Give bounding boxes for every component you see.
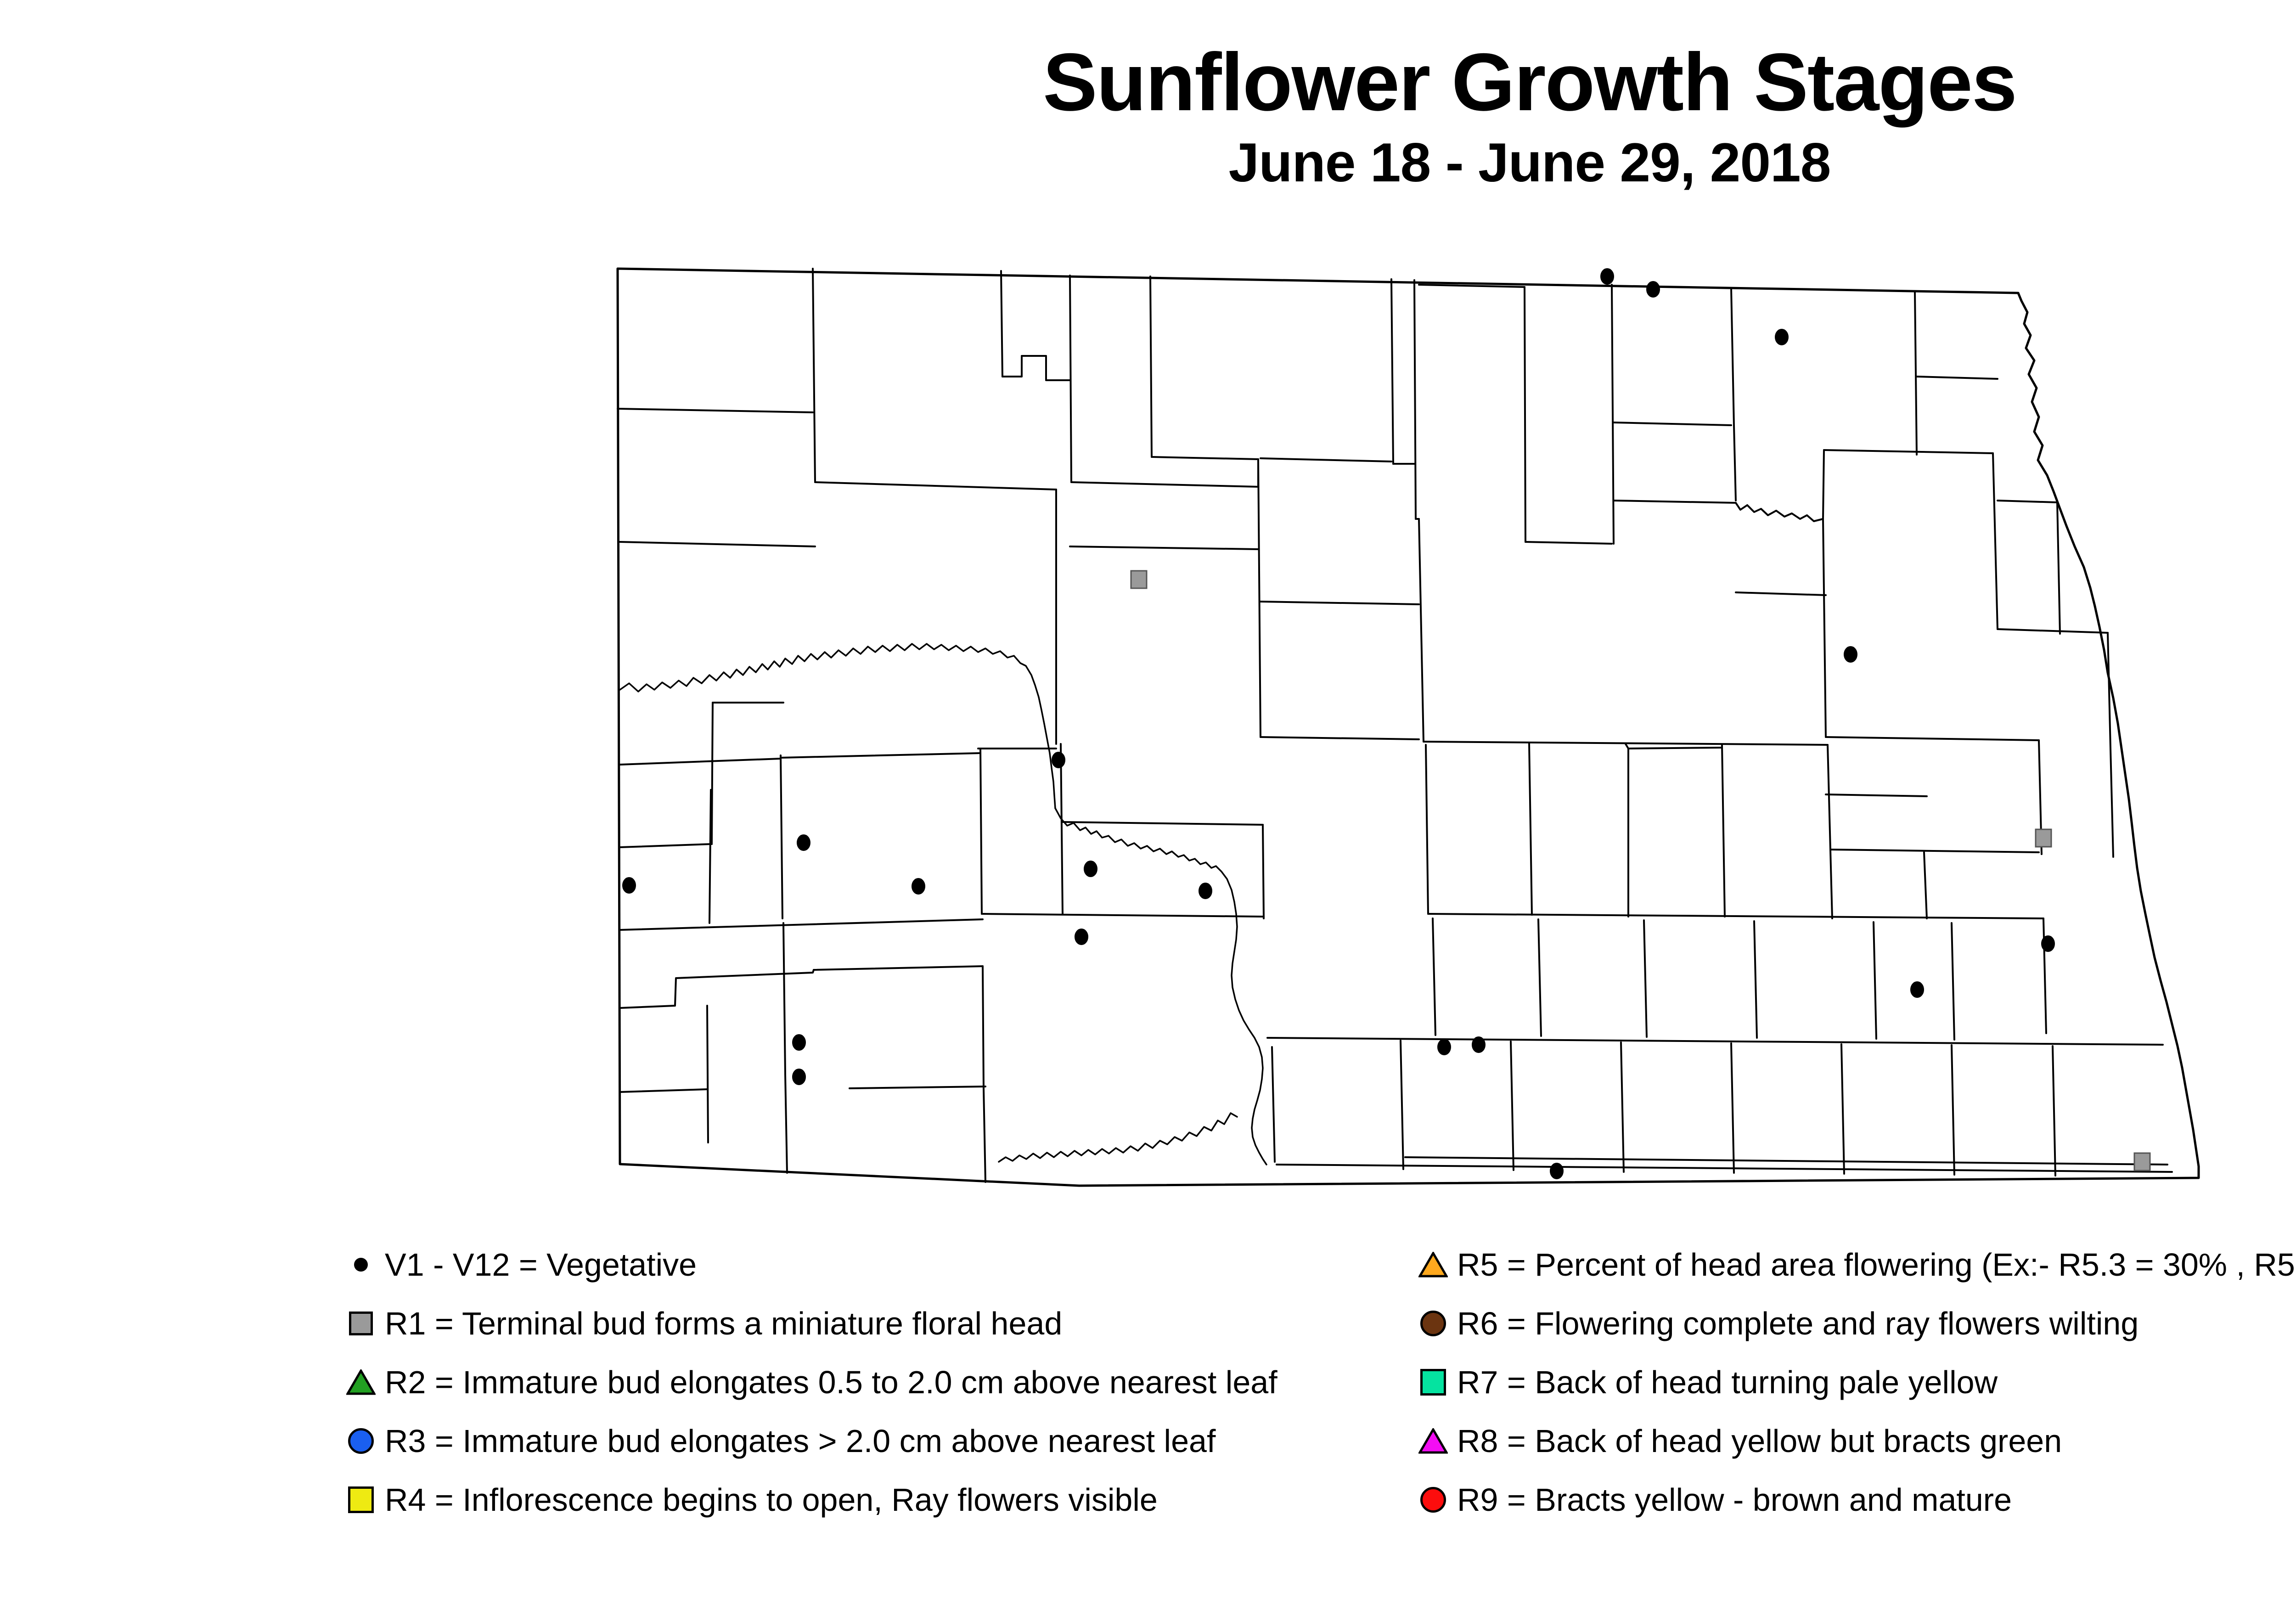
map-marker-vegetative[interactable] [1550, 1163, 1563, 1179]
page-title: Sunflower Growth Stages [0, 41, 2296, 123]
legend-label-v: V1 - V12 = Vegetative [382, 1249, 697, 1281]
legend-label-r8: R8 = Back of head yellow but bracts gree… [1454, 1425, 2062, 1457]
legend-item-v[interactable]: V1 - V12 = Vegetative [340, 1235, 1405, 1294]
orange-triangle-icon [1412, 1239, 1454, 1290]
legend-column-left: V1 - V12 = Vegetative R1 = Terminal bud … [340, 1235, 1405, 1529]
gray-square-icon [340, 1298, 382, 1349]
map-marker-r1[interactable] [1131, 571, 1147, 588]
map-marker-vegetative[interactable] [1052, 752, 1065, 768]
legend-label-r7: R7 = Back of head turning pale yellow [1454, 1366, 1998, 1398]
map-marker-vegetative[interactable] [797, 835, 810, 850]
page-subtitle: June 18 - June 29, 2018 [0, 135, 2296, 190]
legend-item-r1[interactable]: R1 = Terminal bud forms a miniature flor… [340, 1294, 1405, 1353]
map-marker-vegetative[interactable] [1775, 329, 1788, 345]
map-svg [592, 225, 2209, 1203]
legend-label-r6: R6 = Flowering complete and ray flowers … [1454, 1307, 2138, 1340]
legend-label-r9: R9 = Bracts yellow - brown and mature [1454, 1484, 2012, 1516]
legend-item-r3[interactable]: R3 = Immature bud elongates > 2.0 cm abo… [340, 1412, 1405, 1470]
map-marker-vegetative[interactable] [912, 878, 925, 894]
map-marker-r1[interactable] [2036, 829, 2051, 847]
legend-label-r1: R1 = Terminal bud forms a miniature flor… [382, 1307, 1062, 1340]
map-marker-vegetative[interactable] [1844, 647, 1857, 662]
green-triangle-icon [340, 1357, 382, 1407]
state-outline [618, 269, 2199, 1186]
teal-square-icon [1412, 1357, 1454, 1407]
red-circle-icon [1412, 1475, 1454, 1525]
legend-item-r4[interactable]: R4 = Inflorescence begins to open, Ray f… [340, 1470, 1405, 1529]
brown-circle-icon [1412, 1298, 1454, 1349]
map-marker-vegetative[interactable] [623, 878, 636, 893]
legend-item-r7[interactable]: R7 = Back of head turning pale yellow [1412, 1353, 2296, 1412]
legend: V1 - V12 = Vegetative R1 = Terminal bud … [0, 1235, 2296, 1557]
legend-item-r8[interactable]: R8 = Back of head yellow but bracts gree… [1412, 1412, 2296, 1470]
map-marker-r1[interactable] [2134, 1153, 2150, 1171]
legend-column-right: R5 = Percent of head area flowering (Ex:… [1412, 1235, 2296, 1529]
map-marker-vegetative[interactable] [1075, 929, 1088, 945]
blue-circle-icon [340, 1416, 382, 1466]
north-dakota-county-map[interactable] [592, 225, 2209, 1203]
legend-label-r5: R5 = Percent of head area flowering (Ex:… [1454, 1249, 2296, 1281]
legend-item-r6[interactable]: R6 = Flowering complete and ray flowers … [1412, 1294, 2296, 1353]
map-marker-vegetative[interactable] [1438, 1039, 1451, 1055]
map-marker-vegetative[interactable] [793, 1035, 805, 1050]
legend-item-r9[interactable]: R9 = Bracts yellow - brown and mature [1412, 1470, 2296, 1529]
map-marker-vegetative[interactable] [793, 1069, 805, 1085]
legend-label-r3: R3 = Immature bud elongates > 2.0 cm abo… [382, 1425, 1216, 1457]
map-marker-vegetative[interactable] [1647, 281, 1660, 297]
legend-item-r5[interactable]: R5 = Percent of head area flowering (Ex:… [1412, 1235, 2296, 1294]
map-marker-vegetative[interactable] [1911, 982, 1924, 997]
black-circle-icon [340, 1239, 382, 1290]
map-marker-vegetative[interactable] [2042, 936, 2054, 951]
map-marker-vegetative[interactable] [1601, 269, 1614, 284]
legend-label-r4: R4 = Inflorescence begins to open, Ray f… [382, 1484, 1158, 1516]
map-marker-vegetative[interactable] [1199, 883, 1212, 899]
map-marker-vegetative[interactable] [1472, 1037, 1485, 1053]
legend-label-r2: R2 = Immature bud elongates 0.5 to 2.0 c… [382, 1366, 1277, 1398]
page-root: Sunflower Growth Stages June 18 - June 2… [0, 0, 2296, 1610]
map-marker-vegetative[interactable] [1084, 861, 1097, 877]
legend-item-r2[interactable]: R2 = Immature bud elongates 0.5 to 2.0 c… [340, 1353, 1405, 1412]
county-boundaries [618, 269, 2199, 1186]
magenta-triangle-icon [1412, 1416, 1454, 1466]
yellow-square-icon [340, 1475, 382, 1525]
title-block: Sunflower Growth Stages June 18 - June 2… [0, 41, 2296, 190]
